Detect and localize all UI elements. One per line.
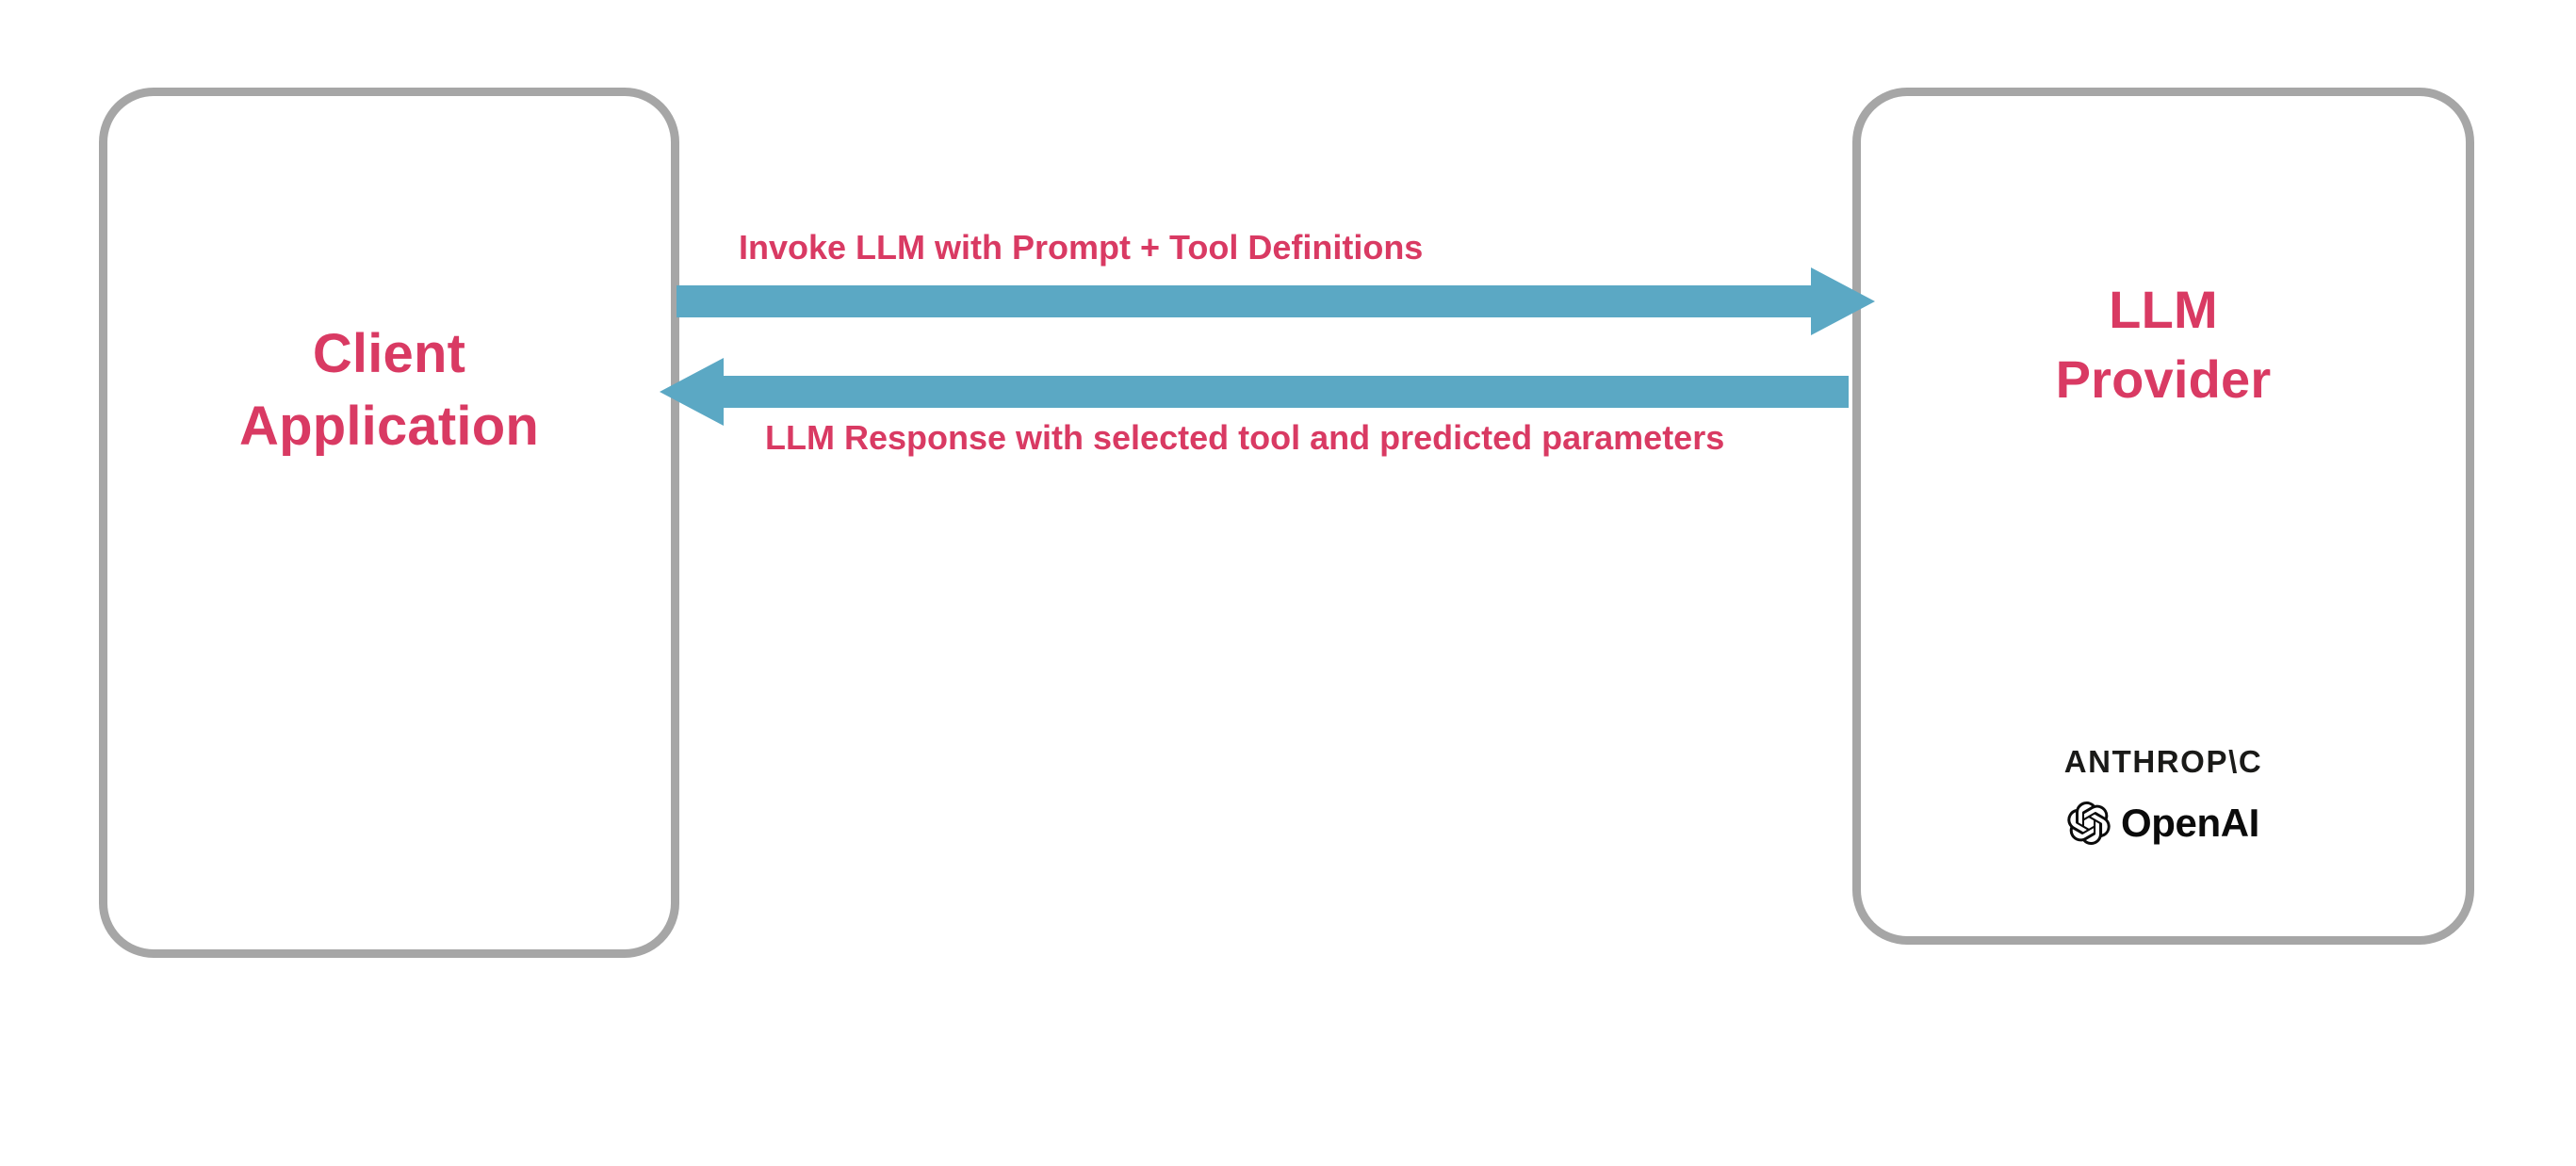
- node-llm-provider[interactable]: LLM Provider ANTHROP\C OpenAI: [1852, 88, 2474, 945]
- edge-response-label: LLM Response with selected tool and pred…: [765, 421, 1724, 455]
- openai-knot-icon: [2067, 802, 2111, 845]
- provider-brand-list: ANTHROP\C OpenAI: [1861, 746, 2466, 845]
- node-llm-provider-title: LLM Provider: [1861, 275, 2466, 414]
- node-client-application-title: Client Application: [107, 318, 671, 462]
- openai-wordmark: OpenAI: [2121, 803, 2259, 843]
- edge-request-arrow: [660, 266, 1875, 337]
- node-client-application[interactable]: Client Application: [99, 88, 679, 958]
- diagram-canvas: Client Application LLM Provider ANTHROP\…: [0, 0, 2576, 1166]
- anthropic-logo: ANTHROP\C: [2064, 746, 2263, 777]
- openai-logo: OpenAI: [2067, 802, 2259, 845]
- edge-response-arrow: [660, 356, 1866, 428]
- edge-request-label: Invoke LLM with Prompt + Tool Definition…: [739, 231, 1423, 265]
